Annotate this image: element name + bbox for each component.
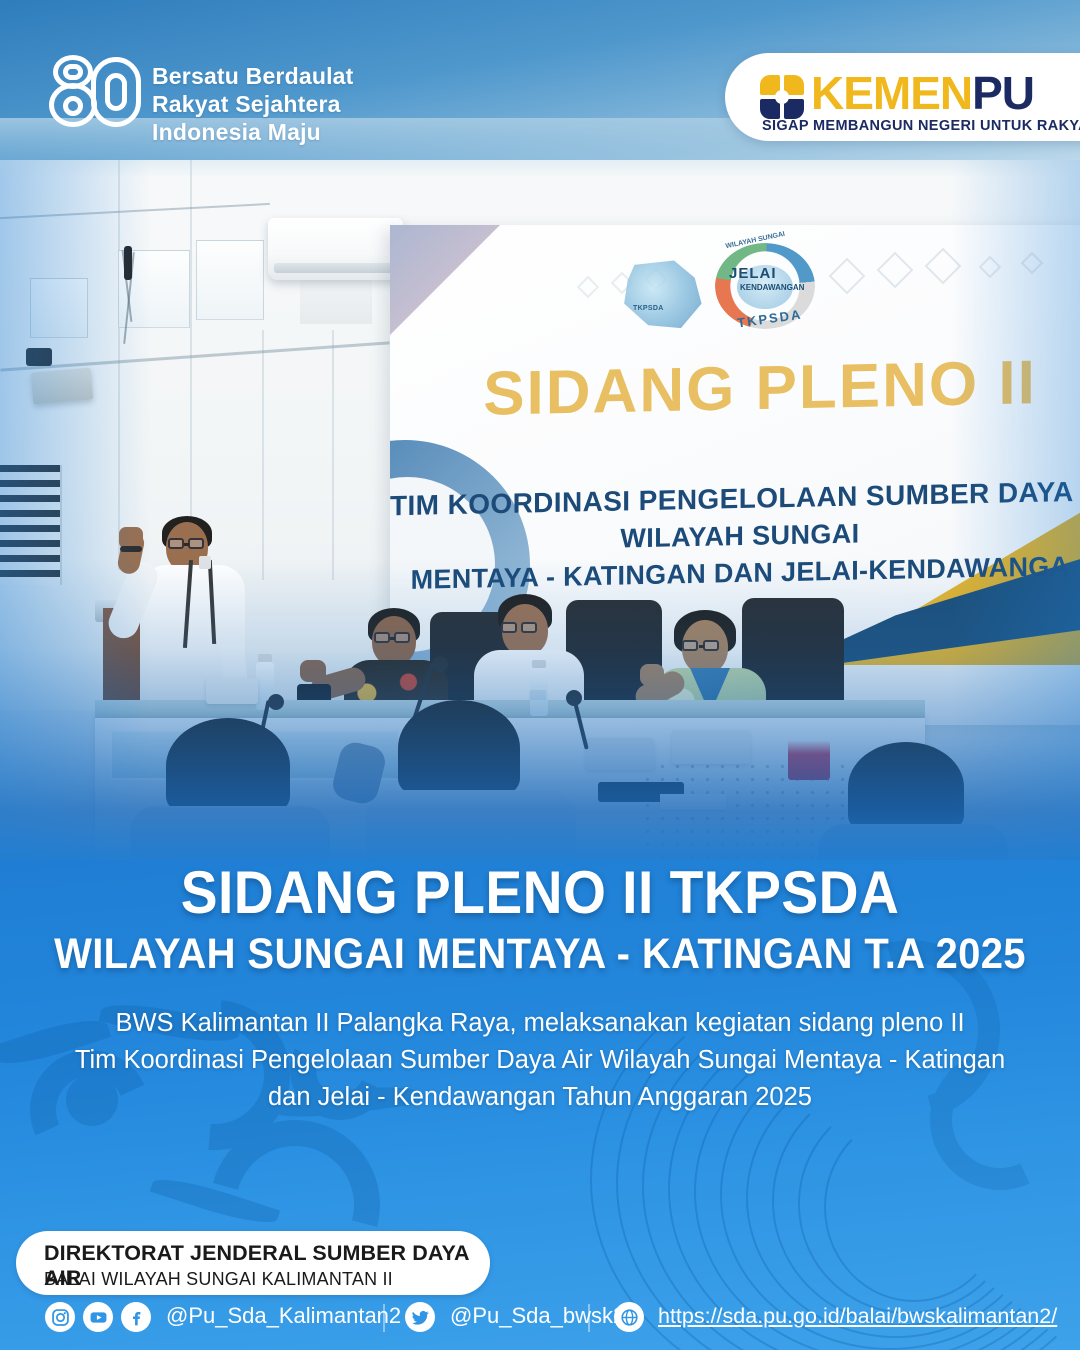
header-tagline: Bersatu Berdaulat Rakyat Sejahtera Indon… bbox=[152, 62, 354, 146]
poster-canvas: TKPSDA WILAYAH SUNGAI JELAI KENDAWANGAN … bbox=[0, 0, 1080, 1350]
kemenpu-word-pu: PU bbox=[972, 67, 1034, 119]
anniversary-80-logo-icon bbox=[47, 55, 141, 127]
body-description: BWS Kalimantan II Palangka Raya, melaksa… bbox=[60, 1005, 1020, 1116]
social-divider-2 bbox=[588, 1304, 590, 1332]
page-title: SIDANG PLENO II TKPSDA bbox=[43, 858, 1037, 927]
instagram-icon[interactable] bbox=[45, 1302, 75, 1332]
body-line-1: BWS Kalimantan II Palangka Raya, melaksa… bbox=[60, 1005, 1020, 1042]
social-links-row: @Pu_Sda_Kalimantan2 @Pu_Sda_bwsk2 https:… bbox=[0, 1300, 1080, 1344]
body-line-3: dan Jelai - Kendawangan Tahun Anggaran 2… bbox=[60, 1079, 1020, 1116]
tagline-line-3: Indonesia Maju bbox=[152, 118, 354, 146]
header-bar: Bersatu Berdaulat Rakyat Sejahtera Indon… bbox=[0, 0, 1080, 160]
kemenpu-word-kemen: KEMEN bbox=[811, 67, 972, 119]
social-divider-1 bbox=[383, 1304, 385, 1332]
kemenpu-wordmark: KEMENPU bbox=[811, 70, 1034, 116]
twitter-icon[interactable] bbox=[405, 1302, 435, 1332]
org-name-secondary: BALAI WILAYAH SUNGAI KALIMANTAN II bbox=[44, 1269, 393, 1290]
kemenpu-tagline: SIGAP MEMBANGUN NEGERI UNTUK RAKYAT bbox=[762, 118, 1080, 134]
wave-decor-right bbox=[700, 920, 1080, 1340]
social-handle-main[interactable]: @Pu_Sda_Kalimantan2 bbox=[166, 1303, 401, 1329]
pu-logo-icon bbox=[760, 75, 804, 119]
body-line-2: Tim Koordinasi Pengelolaan Sumber Daya A… bbox=[60, 1042, 1020, 1079]
social-handle-twitter[interactable]: @Pu_Sda_bwsk2 bbox=[450, 1303, 625, 1329]
tagline-line-1: Bersatu Berdaulat bbox=[152, 62, 354, 90]
page-subtitle: WILAYAH SUNGAI MENTAYA - KATINGAN T.A 20… bbox=[38, 930, 1042, 979]
globe-icon[interactable] bbox=[614, 1302, 644, 1332]
tagline-line-2: Rakyat Sejahtera bbox=[152, 90, 354, 118]
facebook-icon[interactable] bbox=[121, 1302, 151, 1332]
organization-badge: DIREKTORAT JENDERAL SUMBER DAYA AIR BALA… bbox=[16, 1231, 490, 1295]
website-link[interactable]: https://sda.pu.go.id/balai/bwskalimantan… bbox=[658, 1304, 1057, 1329]
youtube-icon[interactable] bbox=[83, 1302, 113, 1332]
kemenpu-logo-pill: KEMENPU SIGAP MEMBANGUN NEGERI UNTUK RAK… bbox=[725, 53, 1080, 141]
